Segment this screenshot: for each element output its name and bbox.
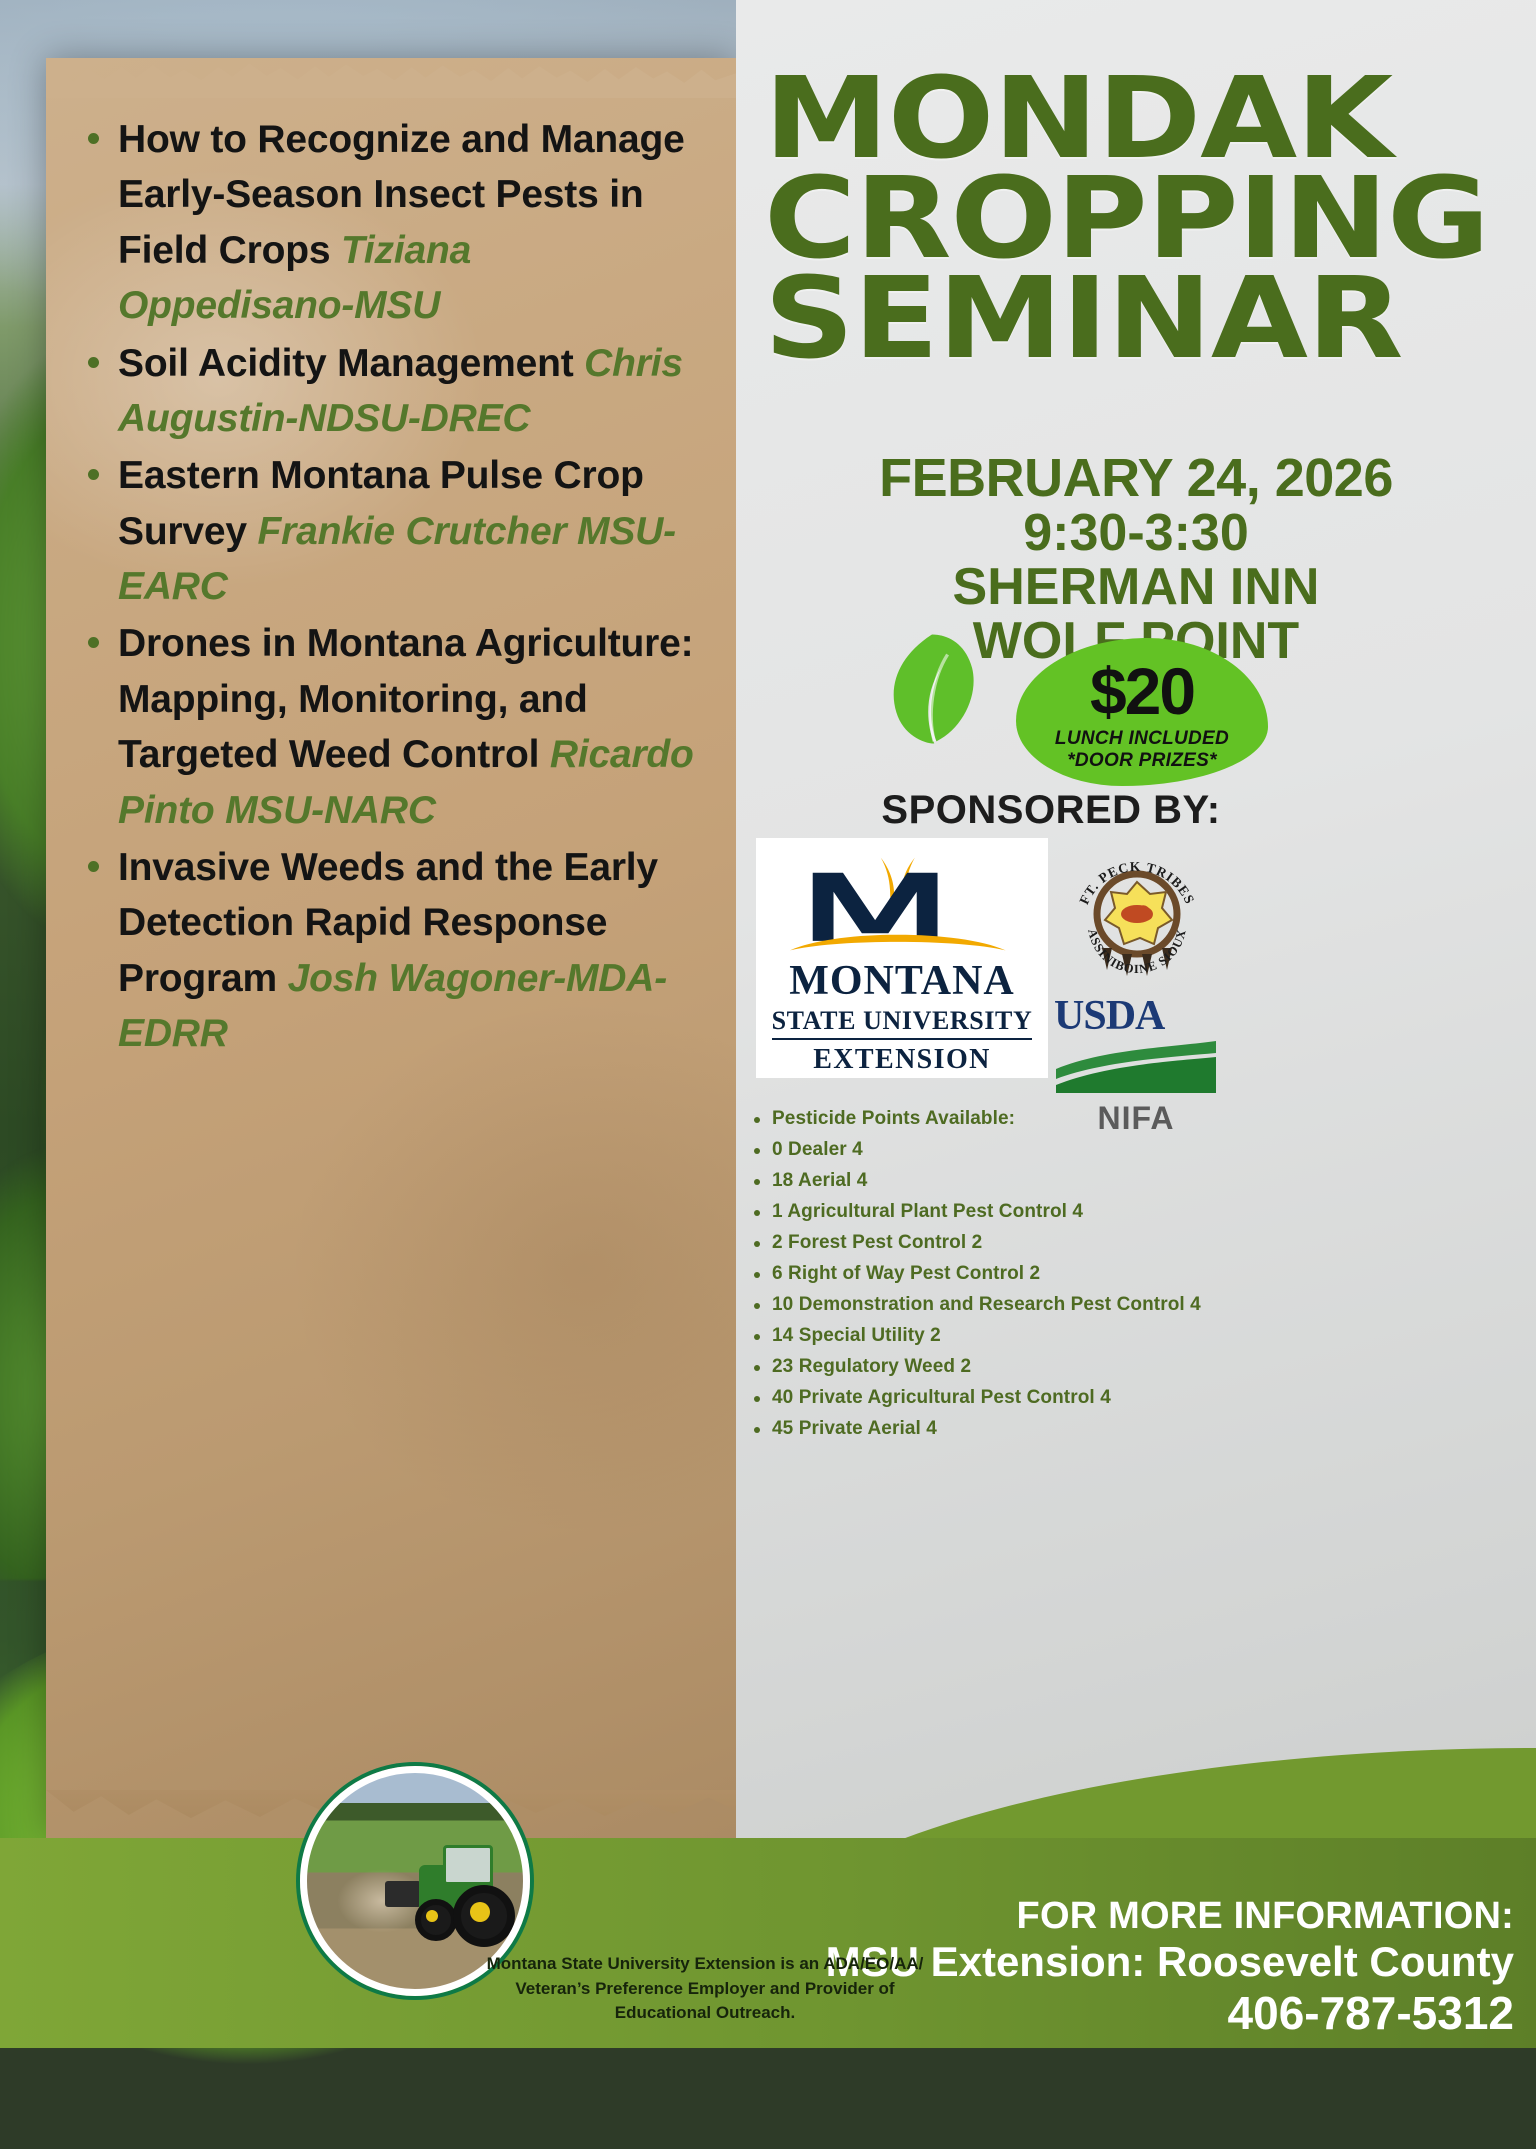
eeo-disclaimer: Montana State University Extension is an… — [470, 1952, 940, 2026]
paper-torn-edge-top — [46, 54, 736, 98]
pesticide-point: 6 Right of Way Pest Control 2 — [750, 1259, 1310, 1290]
price-lunch-note: LUNCH INCLUDED — [1016, 728, 1268, 750]
agenda-item: Invasive Weeds and the Early Detection R… — [76, 840, 716, 1062]
msu-name: MONTANA — [756, 960, 1048, 1002]
agenda-item: Eastern Montana Pulse Crop Survey Franki… — [76, 448, 716, 614]
tractor-implement — [385, 1881, 421, 1907]
footer-more-information-heading: FOR MORE INFORMATION: — [614, 1895, 1514, 1938]
agenda-item: How to Recognize and Manage Early-Season… — [76, 112, 716, 334]
price-amount: $20 — [1016, 638, 1268, 724]
pesticide-point: 23 Regulatory Weed 2 — [750, 1352, 1310, 1383]
msu-extension-label: EXTENSION — [756, 1044, 1048, 1076]
msu-divider — [772, 1038, 1032, 1040]
pesticide-point: 0 Dealer 4 — [750, 1135, 1310, 1166]
usda-wordmark: USDA — [1054, 995, 1218, 1037]
event-details: FEBRUARY 24, 2026 9:30-3:30 SHERMAN INN … — [736, 450, 1536, 668]
poster-title: MONDAK CROPPING SEMINAR — [764, 72, 1512, 372]
pesticide-points-list: Pesticide Points Available: 0 Dealer 4 1… — [750, 1104, 1310, 1445]
pesticide-point: 18 Aerial 4 — [750, 1166, 1310, 1197]
pesticide-point: 45 Private Aerial 4 — [750, 1414, 1310, 1445]
sponsored-by-heading: SPONSORED BY: — [746, 788, 1356, 833]
msu-subtitle: STATE UNIVERSITY — [756, 1006, 1048, 1036]
tractor-rear-wheel — [453, 1885, 515, 1947]
pesticide-point: 1 Agricultural Plant Pest Control 4 — [750, 1197, 1310, 1228]
leaf-icon — [876, 630, 988, 748]
event-venue: SHERMAN INN — [736, 560, 1536, 614]
tractor-front-wheel — [415, 1899, 457, 1941]
title-line-1: MONDAK — [764, 72, 1536, 166]
msu-extension-logo: MONTANA STATE UNIVERSITY EXTENSION — [756, 838, 1048, 1078]
price-door-prizes-note: *DOOR PRIZES* — [1016, 750, 1268, 772]
title-line-3: SEMINAR — [764, 272, 1536, 366]
pesticide-point: 40 Private Agricultural Pest Control 4 — [750, 1383, 1310, 1414]
pesticide-point: 2 Forest Pest Control 2 — [750, 1228, 1310, 1259]
tractor-cab — [443, 1845, 493, 1885]
right-info-column: MONDAK CROPPING SEMINAR FEBRUARY 24, 202… — [736, 0, 1536, 2048]
agenda-topic: Soil Acidity Management — [118, 342, 584, 385]
event-date: FEBRUARY 24, 2026 — [736, 450, 1536, 506]
event-time: 9:30-3:30 — [736, 506, 1536, 560]
usda-field-icon — [1054, 1039, 1218, 1095]
agenda-list: How to Recognize and Manage Early-Season… — [76, 112, 716, 1063]
msu-m-mark-icon — [756, 852, 1040, 956]
agenda-item: Soil Acidity Management Chris Augustin-N… — [76, 336, 716, 447]
fort-peck-tribes-seal-icon: FT. PECK TRIBES ASSINIBOINE SIOUX — [1062, 842, 1212, 992]
price-badge: $20 LUNCH INCLUDED *DOOR PRIZES* — [1016, 638, 1268, 786]
pesticide-point: 10 Demonstration and Research Pest Contr… — [750, 1290, 1310, 1321]
pesticide-point: Pesticide Points Available: — [750, 1104, 1310, 1135]
title-line-2: CROPPING — [764, 172, 1536, 266]
pesticide-point: 14 Special Utility 2 — [750, 1321, 1310, 1352]
agenda-item: Drones in Montana Agriculture: Mapping, … — [76, 616, 716, 838]
footer: FOR MORE INFORMATION: MSU Extension: Roo… — [0, 1848, 1536, 2048]
usda-logo: USDA — [1054, 995, 1218, 1105]
